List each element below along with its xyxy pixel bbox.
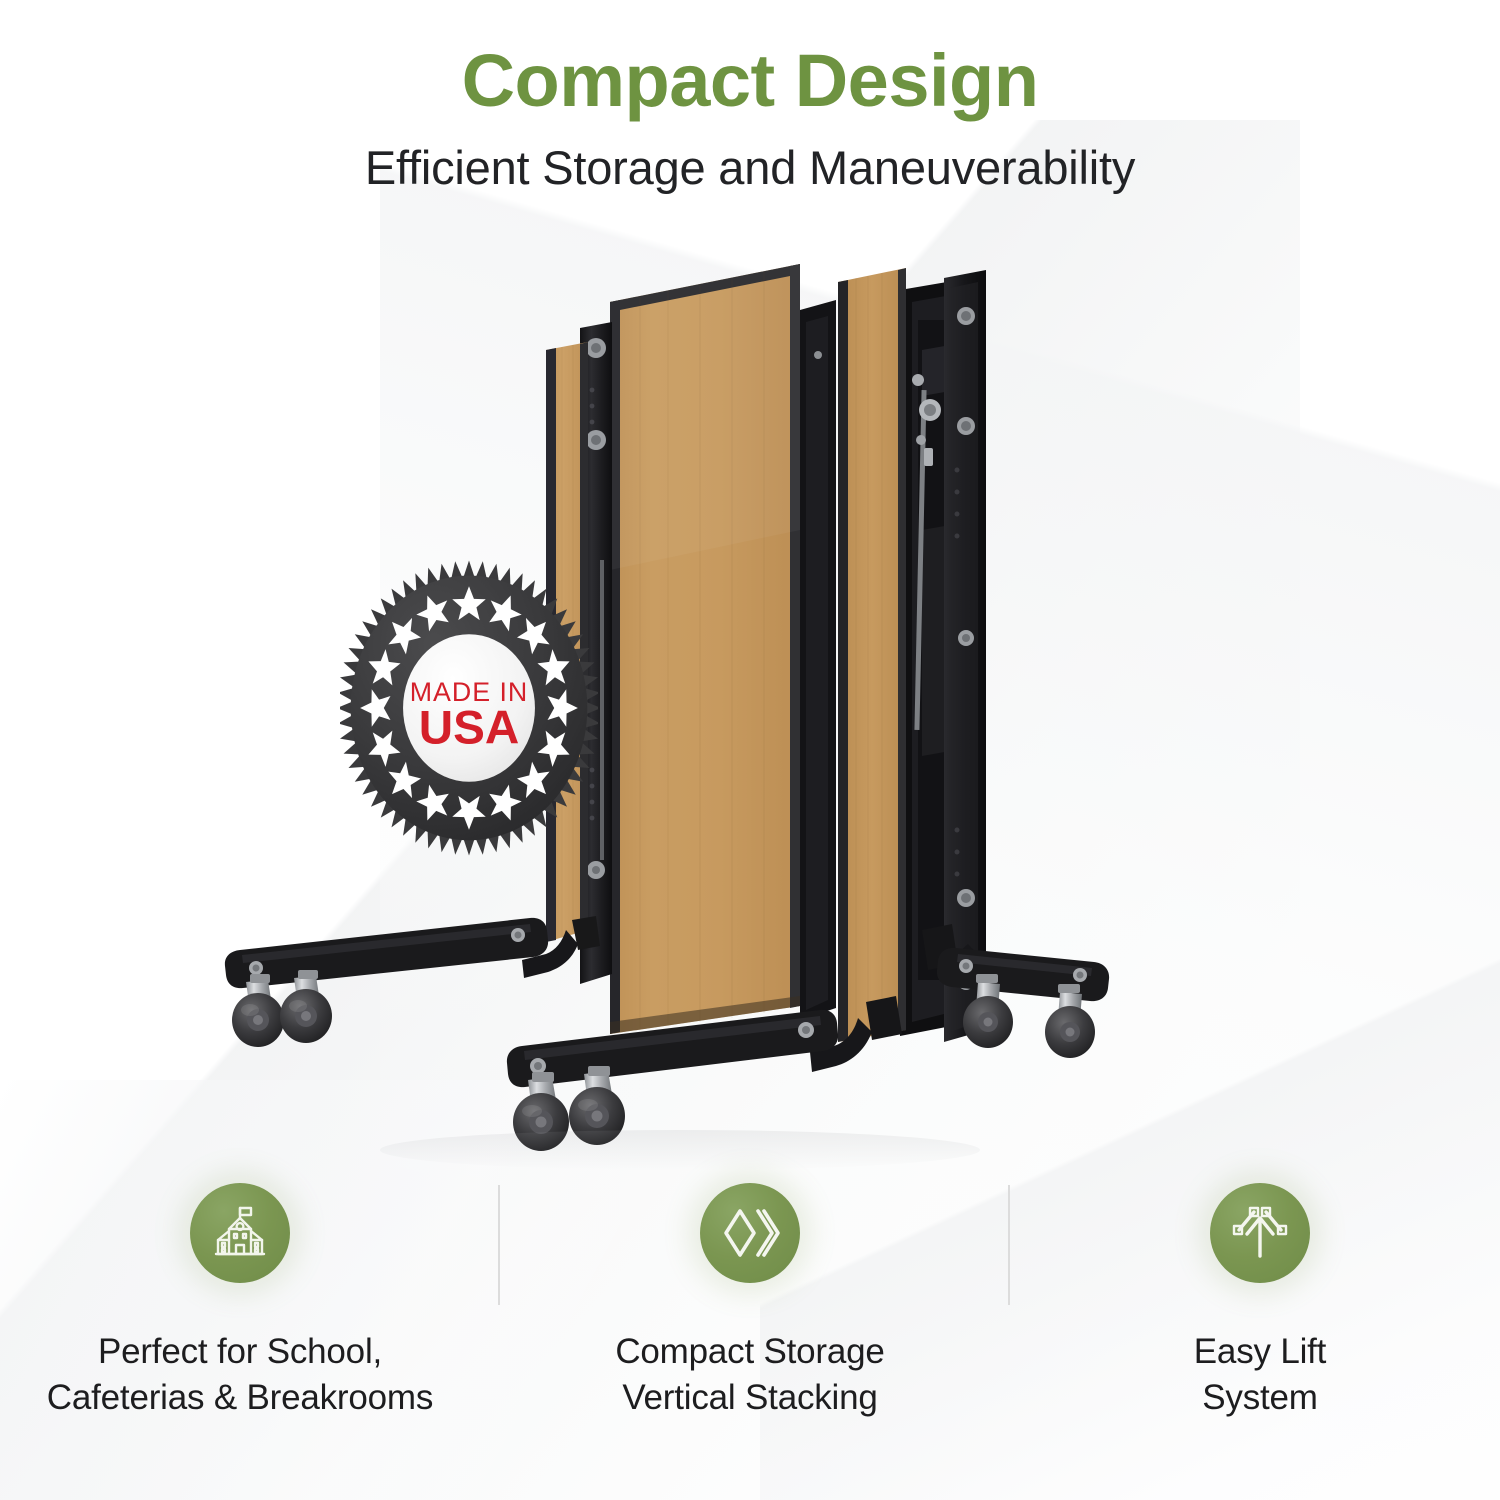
feature-item-storage: Compact Storage Vertical Stacking bbox=[520, 1175, 980, 1420]
header-block: Compact Design Efficient Storage and Man… bbox=[0, 44, 1500, 195]
poster-canvas: Compact Design Efficient Storage and Man… bbox=[0, 0, 1500, 1500]
page-subtitle: Efficient Storage and Maneuverability bbox=[0, 140, 1500, 195]
badge-line2: USA bbox=[419, 702, 520, 755]
page-title: Compact Design bbox=[0, 44, 1500, 118]
table-panel-front bbox=[610, 264, 800, 1034]
caster-base-left bbox=[225, 916, 600, 1047]
feature-label: Perfect for School, Cafeterias & Breakro… bbox=[10, 1329, 470, 1420]
product-image bbox=[0, 230, 1500, 1170]
feature-icon-circle bbox=[1210, 1183, 1310, 1283]
feature-divider bbox=[1008, 1185, 1010, 1305]
made-in-usa-badge: MADE IN USA bbox=[340, 558, 598, 858]
feature-icon-circle bbox=[700, 1183, 800, 1283]
feature-strip: Perfect for School, Cafeterias & Breakro… bbox=[0, 1175, 1500, 1465]
center-frame-channel bbox=[800, 300, 836, 1020]
feature-label: Compact Storage Vertical Stacking bbox=[520, 1329, 980, 1420]
lift-arrow-icon bbox=[1229, 1202, 1291, 1264]
feature-label: Easy Lift System bbox=[1030, 1329, 1490, 1420]
feature-icon-circle bbox=[190, 1183, 290, 1283]
stacking-chevrons-icon bbox=[720, 1203, 780, 1263]
feature-item-lift: Easy Lift System bbox=[1030, 1175, 1490, 1420]
schoolhouse-icon bbox=[209, 1202, 271, 1264]
table-panel-rear bbox=[838, 268, 906, 1042]
feature-divider bbox=[498, 1185, 500, 1305]
feature-item-school: Perfect for School, Cafeterias & Breakro… bbox=[10, 1175, 470, 1420]
